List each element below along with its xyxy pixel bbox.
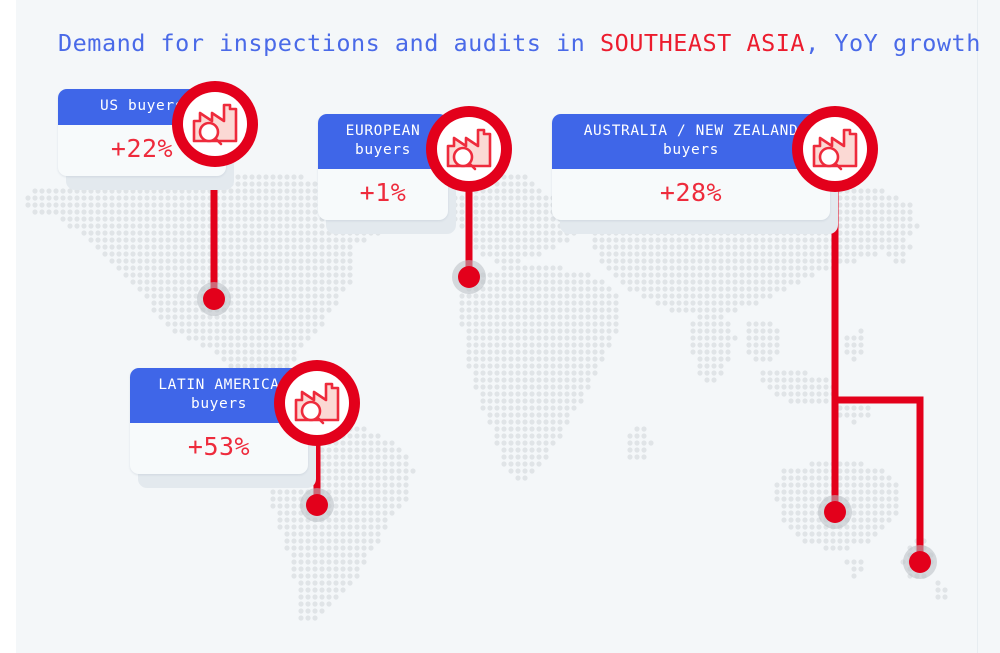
pin-anz[interactable] [792,106,878,192]
title-part-2: , YoY growth [805,29,981,57]
page-title: Demand for inspections and audits in SOU… [58,29,981,57]
card-header-line2: buyers [144,395,294,414]
card-header-line1: AUSTRALIA / NEW ZEALAND [584,123,799,139]
pin-latam[interactable] [274,360,360,446]
factory-magnifier-icon [190,101,240,147]
factory-magnifier-icon [444,126,494,172]
card-header-line2: buyers [566,141,816,160]
card-header-line1: EUROPEAN [346,123,421,139]
right-background-strip [978,0,1000,653]
pin-us[interactable] [172,81,258,167]
card-surface: AUSTRALIA / NEW ZEALAND buyers +28% [552,114,830,220]
pin-europe[interactable] [426,106,512,192]
card-header-line1: LATIN AMERICA [158,377,279,393]
title-part-1: Demand for inspections and audits in [58,29,600,57]
card-anz[interactable]: AUSTRALIA / NEW ZEALAND buyers +28% [552,114,830,220]
infographic-root: Demand for inspections and audits in SOU… [0,0,1000,653]
factory-magnifier-icon [810,126,860,172]
card-header-line2: buyers [332,141,434,160]
factory-magnifier-icon [292,380,342,426]
card-value-anz: +28% [552,169,830,220]
card-header-anz: AUSTRALIA / NEW ZEALAND buyers [552,114,830,169]
title-highlight: SOUTHEAST ASIA [600,29,805,57]
right-divider [977,0,978,653]
